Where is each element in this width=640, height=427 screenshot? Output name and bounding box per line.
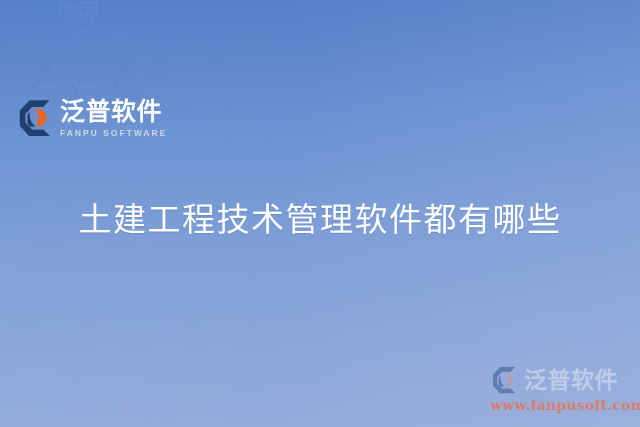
skyline-middle-tower (59, 0, 101, 100)
watermark: 泛普软件 www.fanpusoft.com (490, 363, 632, 419)
watermark-lockup: 泛普软件 (490, 363, 632, 397)
header-company-name-cn: 泛普软件 (60, 99, 167, 126)
page-title: 土建工程技术管理软件都有哪些 (0, 193, 640, 241)
skyline-left-tower (28, 37, 54, 100)
watermark-company-name-cn: 泛普软件 (524, 369, 618, 392)
fanpu-watermark-mark-icon (490, 366, 520, 394)
fanpu-logo-mark-icon (19, 99, 53, 137)
skyline-right-tower (106, 33, 132, 100)
slide-canvas: 泛普软件 FANPU SOFTWARE 土建工程技术管理软件都有哪些 泛普软件 … (0, 0, 640, 427)
header-brand-logo: 泛普软件 FANPU SOFTWARE (19, 99, 167, 138)
header-wordmark: 泛普软件 FANPU SOFTWARE (60, 99, 167, 138)
header-company-name-en: FANPU SOFTWARE (60, 128, 167, 138)
watermark-url: www.fanpusoft.com (490, 398, 632, 414)
pixel-skyline-icon (28, 16, 132, 100)
